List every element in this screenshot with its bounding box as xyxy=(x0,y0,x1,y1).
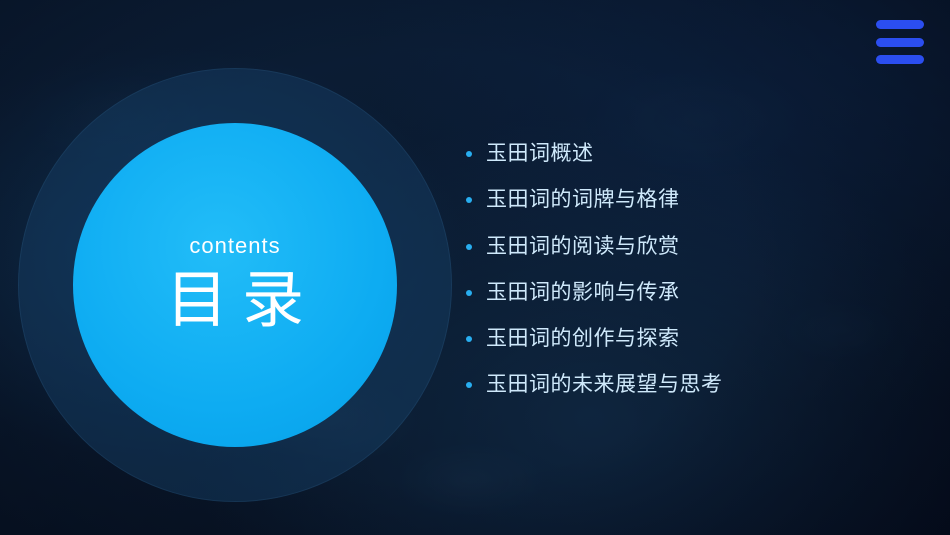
inner-circle: contents 目录 xyxy=(73,123,397,447)
list-item[interactable]: 玉田词的阅读与欣赏 xyxy=(466,233,906,260)
slide-canvas: contents 目录 玉田词概述 玉田词的词牌与格律 玉田词的阅读与欣赏 玉田… xyxy=(0,0,950,535)
menu-bar-top xyxy=(876,20,924,29)
bullet-icon xyxy=(466,336,472,342)
list-item[interactable]: 玉田词的未来展望与思考 xyxy=(466,371,906,398)
bullet-icon xyxy=(466,197,472,203)
list-item[interactable]: 玉田词的词牌与格律 xyxy=(466,186,906,213)
bullet-icon xyxy=(466,382,472,388)
menu-bar-middle xyxy=(876,38,924,47)
list-item[interactable]: 玉田词的影响与传承 xyxy=(466,279,906,306)
list-item[interactable]: 玉田词概述 xyxy=(466,140,906,167)
list-item-label: 玉田词的词牌与格律 xyxy=(486,186,680,213)
list-item-label: 玉田词概述 xyxy=(486,140,594,167)
list-item-label: 玉田词的影响与传承 xyxy=(486,279,680,306)
menu-bar-bottom xyxy=(876,55,924,64)
list-item[interactable]: 玉田词的创作与探索 xyxy=(466,325,906,352)
contents-label: contents xyxy=(189,233,280,259)
table-of-contents: 玉田词概述 玉田词的词牌与格律 玉田词的阅读与欣赏 玉田词的影响与传承 玉田词的… xyxy=(466,140,906,418)
list-item-label: 玉田词的阅读与欣赏 xyxy=(486,233,680,260)
page-title: 目录 xyxy=(152,265,318,336)
bullet-icon xyxy=(466,244,472,250)
contents-circle: contents 目录 xyxy=(18,68,452,502)
list-item-label: 玉田词的创作与探索 xyxy=(486,325,680,352)
bullet-icon xyxy=(466,290,472,296)
bullet-icon xyxy=(466,151,472,157)
hamburger-menu-icon[interactable] xyxy=(876,20,924,64)
list-item-label: 玉田词的未来展望与思考 xyxy=(486,371,723,398)
